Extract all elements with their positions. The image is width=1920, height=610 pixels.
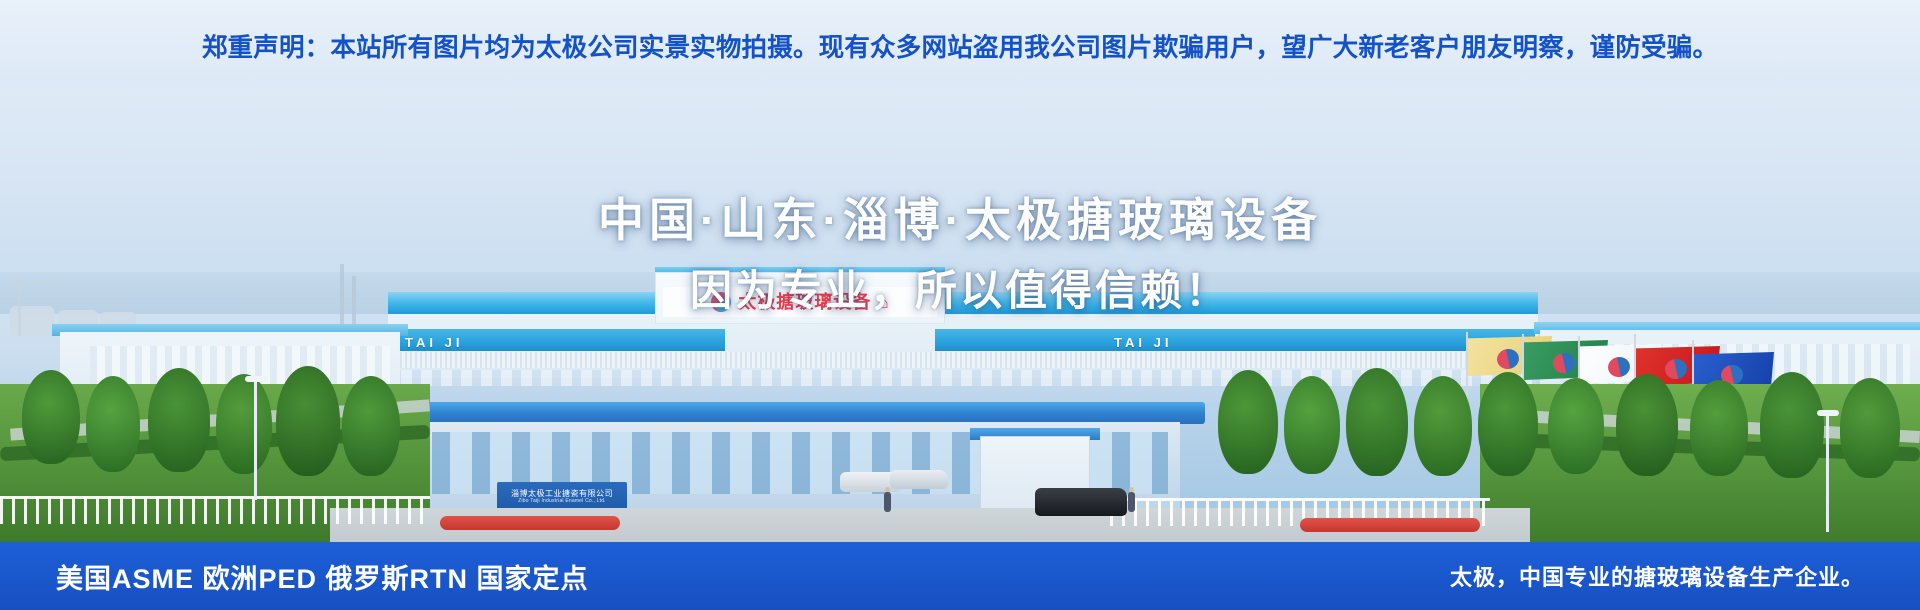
building-signboard: 太极搪玻璃设备 ⌂ [663,287,937,317]
tree [1284,376,1340,474]
tree [1690,380,1748,476]
tree [216,374,272,474]
storage-tank [10,306,54,336]
tree [86,376,140,472]
tree [1548,378,1604,474]
roof-blue [388,298,1538,314]
tree [342,376,400,476]
tree [1478,372,1538,476]
corrugated-band [390,352,1538,368]
tree [1616,374,1678,476]
bottom-bar: 美国ASME 欧洲PED 俄罗斯RTN 国家定点 太极，中国专业的搪玻璃设备生产… [0,542,1920,610]
plaque-line-en: Zibo Taiji Industrial Enamel Co., Ltd. [518,498,606,504]
plaque-line-cn: 淄博太极工业搪瓷有限公司 [511,490,613,499]
tree [148,368,210,472]
signboard-mark-icon: ⌂ [878,294,888,311]
hero-photo: 太极搪玻璃设备 ⌂ TAI JI TAI JI [0,84,1920,542]
white-fence [0,496,430,524]
taiji-yinyang-icon [711,292,731,312]
crane-jib [4,282,62,285]
flower-bed [1300,518,1480,532]
announcement-bar: 郑重声明：本站所有图片均为太极公司实景实物拍摄。现有众多网站盗用我公司图片欺骗用… [0,0,1920,88]
tree [1414,376,1472,476]
tree [22,370,80,464]
person [1128,492,1135,512]
announcement-text: 郑重声明：本站所有图片均为太极公司实景实物拍摄。现有众多网站盗用我公司图片欺骗用… [202,27,1718,64]
street-lamp [1826,414,1829,532]
parked-car [1035,488,1127,516]
slogan-text: 太极，中国专业的搪玻璃设备生产企业。 [1450,560,1864,592]
tree [276,366,340,476]
tree [1346,368,1408,476]
page-root: 郑重声明：本站所有图片均为太极公司实景实物拍摄。现有众多网站盗用我公司图片欺骗用… [0,0,1920,610]
fascia-label-left: TAI JI [405,335,463,350]
flower-bed [440,516,620,530]
gate-canopy [395,402,1205,424]
fascia-label-right: TAI JI [1114,335,1172,350]
parked-car [890,470,948,489]
fascia-right [935,329,1535,351]
person [884,492,891,512]
tree [1840,378,1900,478]
chimney-stack [352,276,356,326]
crane-mast [18,280,21,336]
street-lamp [254,380,257,500]
tree [1760,372,1824,478]
certification-text: 美国ASME 欧洲PED 俄罗斯RTN 国家定点 [56,557,589,596]
tree [1218,370,1278,474]
chimney-stack [340,264,344,326]
signboard-text: 太极搪玻璃设备 [738,293,871,311]
